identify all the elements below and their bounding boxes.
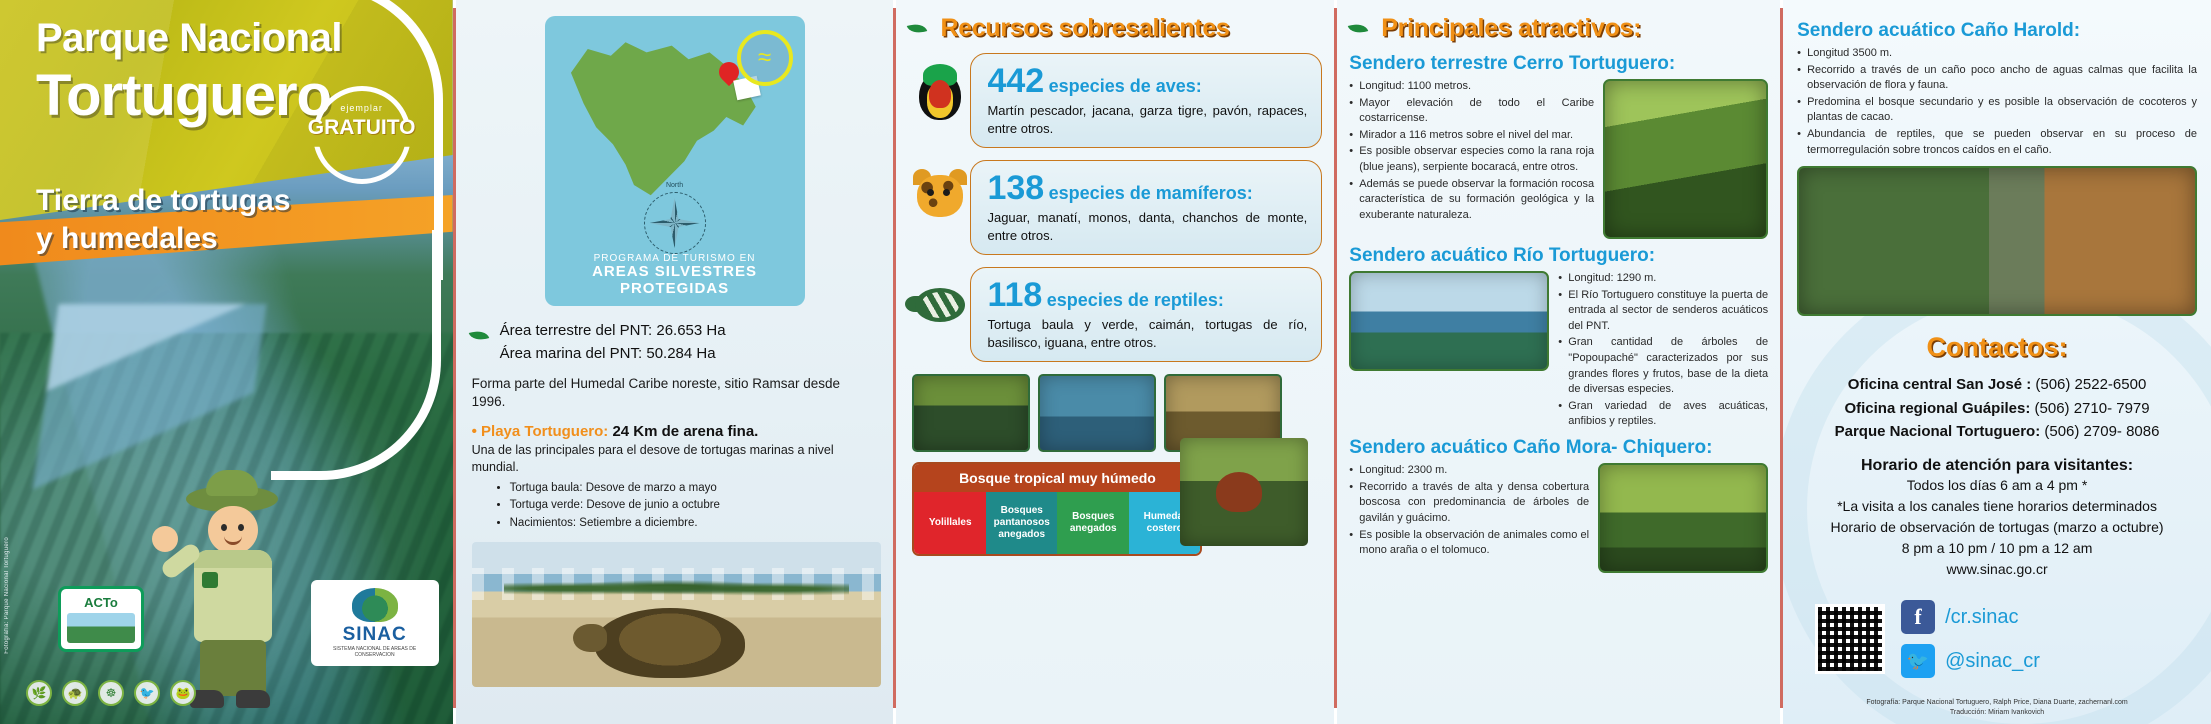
playa-subtext: Una de las principales para el desove de… <box>472 442 878 476</box>
credit-translation: Traducción: Miriam Ivankovich <box>1783 708 2211 718</box>
facebook-link[interactable]: f /cr.sinac <box>1901 600 2040 634</box>
icon-strip: 🌿 🐢 ☸ 🐦 🐸 <box>26 680 196 706</box>
trail-rio-block: Longitud: 1290 m. El Río Tortuguero cons… <box>1349 271 1768 431</box>
hours-title: Horario de atención para visitantes: <box>1797 457 2197 475</box>
cover-title-small: Parque Nacional <box>36 16 342 61</box>
contact-label: Parque Nacional Tortuguero: <box>1835 423 2041 440</box>
contacts-title: Contactos: <box>1797 332 2197 363</box>
asp-line-2: AREAS SILVESTRES <box>545 264 805 281</box>
trail-title-cerro: Sendero terrestre Cerro Tortuguero: <box>1349 53 1768 75</box>
trail-cano-mora-block: Longitud: 2300 m. Recorrido a través de … <box>1349 463 1768 573</box>
trail-rio-list: Longitud: 1290 m. El Río Tortuguero cons… <box>1558 271 1768 431</box>
photo-crocodile <box>1797 166 2197 316</box>
acto-label: ACTo <box>84 595 118 610</box>
forest-table-title: Bosque tropical muy húmedo <box>914 464 1200 492</box>
asp-program-text: PROGRAMA DE TURISMO EN AREAS SILVESTRES … <box>545 253 805 298</box>
ranger-hand <box>152 526 178 552</box>
twitter-icon: 🐦 <box>1901 644 1935 678</box>
list-item: El Río Tortuguero constituye la puerta d… <box>1558 288 1768 335</box>
playa-list: Tortuga baula: Desove de marzo a mayo To… <box>510 480 880 532</box>
toucan-icon <box>911 58 969 122</box>
gratuito-badge: ejemplar GRATUITO <box>307 86 417 172</box>
panel-resources: Recursos sobresalientes 442 especies de … <box>896 0 1334 724</box>
stat-card-birds: 442 especies de aves: Martín pescador, j… <box>970 53 1322 148</box>
forest-cell: Bosques anegados <box>1057 492 1129 554</box>
contact-label: Oficina regional Guápiles: <box>1844 400 2030 417</box>
website-link[interactable]: www.sinac.go.cr <box>1797 559 2197 580</box>
list-item: Predomina el bosque secundario y es posi… <box>1797 95 2197 126</box>
resources-header: Recursos sobresalientes <box>908 14 1322 43</box>
stat-number: 442 <box>987 62 1044 100</box>
hours-line: *La visita a los canales tiene horarios … <box>1797 496 2197 517</box>
trail-cano-mora-list: Longitud: 2300 m. Recorrido a través de … <box>1349 463 1589 560</box>
sinac-tagline: SISTEMA NACIONAL DE AREAS DE CONSERVACIO… <box>316 646 434 659</box>
hours-line: 8 pm a 10 pm / 10 pm a 12 am <box>1797 538 2197 559</box>
social-links: f /cr.sinac 🐦 @sinac_cr <box>1901 600 2040 678</box>
photo-canal <box>1598 463 1768 573</box>
forest-types-table: Bosque tropical muy húmedo Yolillales Bo… <box>912 462 1202 556</box>
attractions-title: Principales atractivos: <box>1381 14 1641 43</box>
facebook-handle: /cr.sinac <box>1945 606 2018 629</box>
forest-cell: Yolillales <box>914 492 986 554</box>
leaf-icon <box>907 20 928 36</box>
panel-attractions: Principales atractivos: Sendero terrestr… <box>1337 0 1780 724</box>
contact-row-pnt: Parque Nacional Tortuguero: (506) 2709- … <box>1797 420 2197 443</box>
ranger-face <box>208 506 258 554</box>
list-item: Es posible la observación de animales co… <box>1349 528 1589 559</box>
jaguar-icon <box>911 165 969 229</box>
list-item: Mirador a 116 metros sobre el nivel del … <box>1349 128 1594 144</box>
list-item: Nacimientos: Setiembre a diciembre. <box>510 515 880 532</box>
wave-badge-icon: ≈ <box>737 30 793 86</box>
trail-cerro-list: Longitud: 1100 metros. Mayor elevación d… <box>1349 79 1594 224</box>
list-item: Recorrido a través de un caño poco ancho… <box>1797 63 2197 94</box>
ranger-legs <box>200 640 266 696</box>
ranger-badge <box>202 572 218 588</box>
list-item: Longitud: 2300 m. <box>1349 463 1589 479</box>
forest-table-row: Yolillales Bosques pantanosos anegados B… <box>914 492 1200 554</box>
panel-cover: Parque Nacional Tortuguero Tierra de tor… <box>0 0 453 724</box>
list-item: Es posible observar especies como la ran… <box>1349 144 1594 175</box>
contact-row-guapiles: Oficina regional Guápiles: (506) 2710- 7… <box>1797 397 2197 420</box>
trail-title-cano-mora: Sendero acuático Caño Mora- Chiquero: <box>1349 437 1768 459</box>
leaf-icon: 🌿 <box>26 680 52 706</box>
cover-title-main: Tortuguero <box>36 62 331 129</box>
ranger-collar <box>194 550 272 568</box>
credits-block: Fotografía: Parque Nacional Tortuguero, … <box>1783 698 2211 718</box>
leaf-icon <box>1348 20 1369 36</box>
twitter-handle: @sinac_cr <box>1945 650 2040 673</box>
gratuito-label: GRATUITO <box>307 116 417 140</box>
stat-label: especies de reptiles: <box>1047 290 1224 310</box>
sinac-name: SINAC <box>343 624 407 646</box>
photo-otter <box>912 374 1030 452</box>
trail-cerro-block: Longitud: 1100 metros. Mayor elevación d… <box>1349 79 1768 239</box>
hours-line: Todos los días 6 am a 4 pm * <box>1797 475 2197 496</box>
acto-thumbnail <box>67 613 135 643</box>
forest-cell: Bosques pantanosos anegados <box>986 492 1058 554</box>
stat-card-reptiles: 118 especies de reptiles: Tortuga baula … <box>970 267 1322 362</box>
list-item: Longitud: 1100 metros. <box>1349 79 1594 95</box>
asp-line-3: PROTEGIDAS <box>545 281 805 298</box>
contact-row-sanjose: Oficina central San José : (506) 2522-65… <box>1797 373 2197 396</box>
photo-river <box>1349 271 1549 371</box>
ranger-eye-right <box>238 524 244 531</box>
list-item: Además se puede observar la formación ro… <box>1349 177 1594 224</box>
facebook-icon: f <box>1901 600 1935 634</box>
turtle-photo-subject <box>595 608 745 678</box>
stat-number: 138 <box>987 169 1044 207</box>
attractions-header: Principales atractivos: <box>1349 14 1768 43</box>
area-marina-text: Área marina del PNT: 50.284 Ha <box>500 343 726 366</box>
bird-icon: 🐦 <box>134 680 160 706</box>
resources-title: Recursos sobresalientes <box>940 14 1229 43</box>
list-item: Mayor elevación de todo el Caribe costar… <box>1349 96 1594 127</box>
sinac-logo: SINAC SISTEMA NACIONAL DE AREAS DE CONSE… <box>311 580 439 666</box>
ranger-boot-right <box>236 690 270 708</box>
list-item: Tortuga verde: Desove de junio a octubre <box>510 497 880 514</box>
compass-north-label: North <box>644 182 706 189</box>
trail-title-cano-harold: Sendero acuático Caño Harold: <box>1797 20 2197 42</box>
photo-manatee <box>1038 374 1156 452</box>
beach-turtle-photo <box>472 542 882 687</box>
playa-heading: • Playa Tortuguero: 24 Km de arena fina. <box>472 423 878 440</box>
area-terrestre-text: Área terrestre del PNT: 26.653 Ha <box>500 320 726 343</box>
list-item: Abundancia de reptiles, que se pueden ob… <box>1797 127 2197 158</box>
playa-km: 24 Km de arena fina. <box>612 423 758 440</box>
hours-line: Horario de observación de tortugas (marz… <box>1797 517 2197 538</box>
list-item: Gran variedad de aves acuáticas, anfibio… <box>1558 399 1768 430</box>
brochure-root: Parque Nacional Tortuguero Tierra de tor… <box>0 0 2211 724</box>
contact-value: (506) 2709- 8086 <box>2044 423 2159 440</box>
frog-icon: 🐸 <box>170 680 196 706</box>
stat-label: especies de aves: <box>1049 76 1202 96</box>
turtle-icon <box>911 272 969 336</box>
list-item: Gran cantidad de árboles de "Popoupaché"… <box>1558 335 1768 397</box>
compass-rose-icon: North <box>644 192 706 254</box>
list-item: Recorrido a través de alta y densa cober… <box>1349 480 1589 527</box>
trail-cano-harold-list: Longitud 3500 m. Recorrido a través de u… <box>1797 46 2197 158</box>
photo-monkey <box>1603 79 1768 239</box>
panel-map-info: ≈ North PROGRAMA DE TURISMO EN AREAS SIL… <box>456 0 894 724</box>
social-row: f /cr.sinac 🐦 @sinac_cr <box>1797 600 2197 678</box>
stat-description: Jaguar, manatí, monos, danta, chanchos d… <box>987 209 1307 244</box>
stat-label: especies de mamíferos: <box>1049 183 1253 203</box>
turtle-icon: 🐢 <box>62 680 88 706</box>
playa-heading-label: • Playa Tortuguero: <box>472 423 609 440</box>
stat-description: Tortuga baula y verde, caimán, tortugas … <box>987 316 1307 351</box>
stat-description: Martín pescador, jacana, garza tigre, pa… <box>987 102 1307 137</box>
ranger-hat-top <box>206 470 258 496</box>
contact-value: (506) 2710- 7979 <box>2035 400 2150 417</box>
cover-photo-credit: Fotografía: Parque Nacional Tortuguero <box>4 537 10 654</box>
photo-bird <box>1180 438 1308 546</box>
sinac-mark-icon <box>352 588 398 622</box>
ramsar-paragraph: Forma parte del Humedal Caribe noreste, … <box>472 375 878 411</box>
list-item: Longitud 3500 m. <box>1797 46 2197 62</box>
ranger-eye-left <box>221 524 227 531</box>
costa-rica-map-card: ≈ North PROGRAMA DE TURISMO EN AREAS SIL… <box>545 16 805 306</box>
ranger-smile <box>224 536 242 545</box>
cover-subtitle: Tierra de tortugas y humedales <box>36 182 291 259</box>
contact-value: (506) 2522-6500 <box>2035 376 2146 393</box>
compass-icon: ☸ <box>98 680 124 706</box>
list-item: Longitud: 1290 m. <box>1558 271 1768 287</box>
trail-title-rio: Sendero acuático Río Tortuguero: <box>1349 245 1768 267</box>
leaf-bullet-icon <box>468 327 489 343</box>
acto-badge: ACTo <box>58 586 144 652</box>
twitter-link[interactable]: 🐦 @sinac_cr <box>1901 644 2040 678</box>
stat-number: 118 <box>987 276 1042 314</box>
qr-code[interactable] <box>1815 604 1885 674</box>
panel-contacts: Sendero acuático Caño Harold: Longitud 3… <box>1783 0 2211 724</box>
list-item: Tortuga baula: Desove de marzo a mayo <box>510 480 880 497</box>
credit-photo: Fotografía: Parque Nacional Tortuguero, … <box>1783 698 2211 708</box>
contact-label: Oficina central San José : <box>1848 376 2031 393</box>
ejemplar-label: ejemplar <box>307 103 417 113</box>
stat-card-mammals: 138 especies de mamíferos: Jaguar, manat… <box>970 160 1322 255</box>
